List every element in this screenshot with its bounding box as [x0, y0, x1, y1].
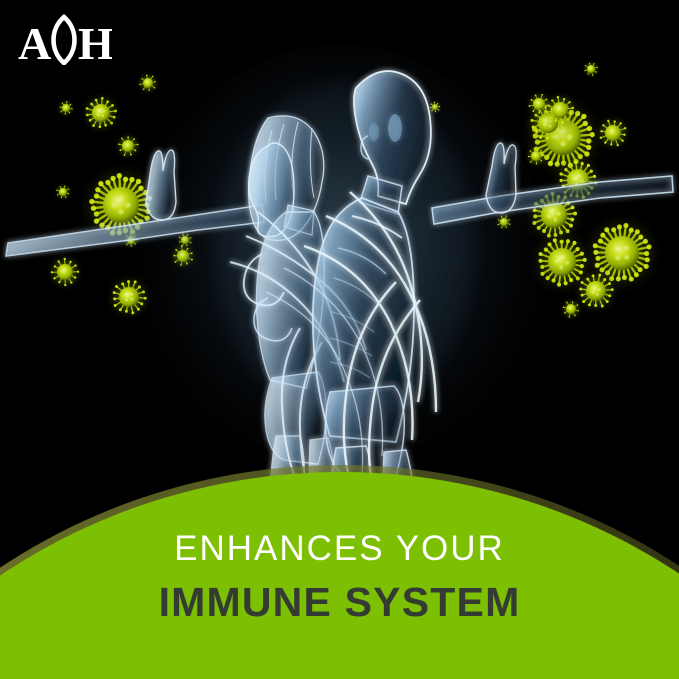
- brand-logo[interactable]: A H: [16, 13, 112, 65]
- logo-letter-a: A: [18, 18, 51, 65]
- logo-letter-h: H: [78, 18, 112, 65]
- leaf-lens-o-icon: [54, 17, 75, 63]
- headline-primary: ENHANCES YOUR: [0, 528, 679, 570]
- banner-text-block: ENHANCES YOUR IMMUNE SYSTEM: [0, 528, 679, 628]
- advertisement-canvas: ENHANCES YOUR IMMUNE SYSTEM A H: [0, 0, 679, 679]
- headline-secondary: IMMUNE SYSTEM: [0, 576, 679, 628]
- figure-halo: [215, 80, 475, 420]
- aoh-logo-svg: A H: [16, 13, 112, 65]
